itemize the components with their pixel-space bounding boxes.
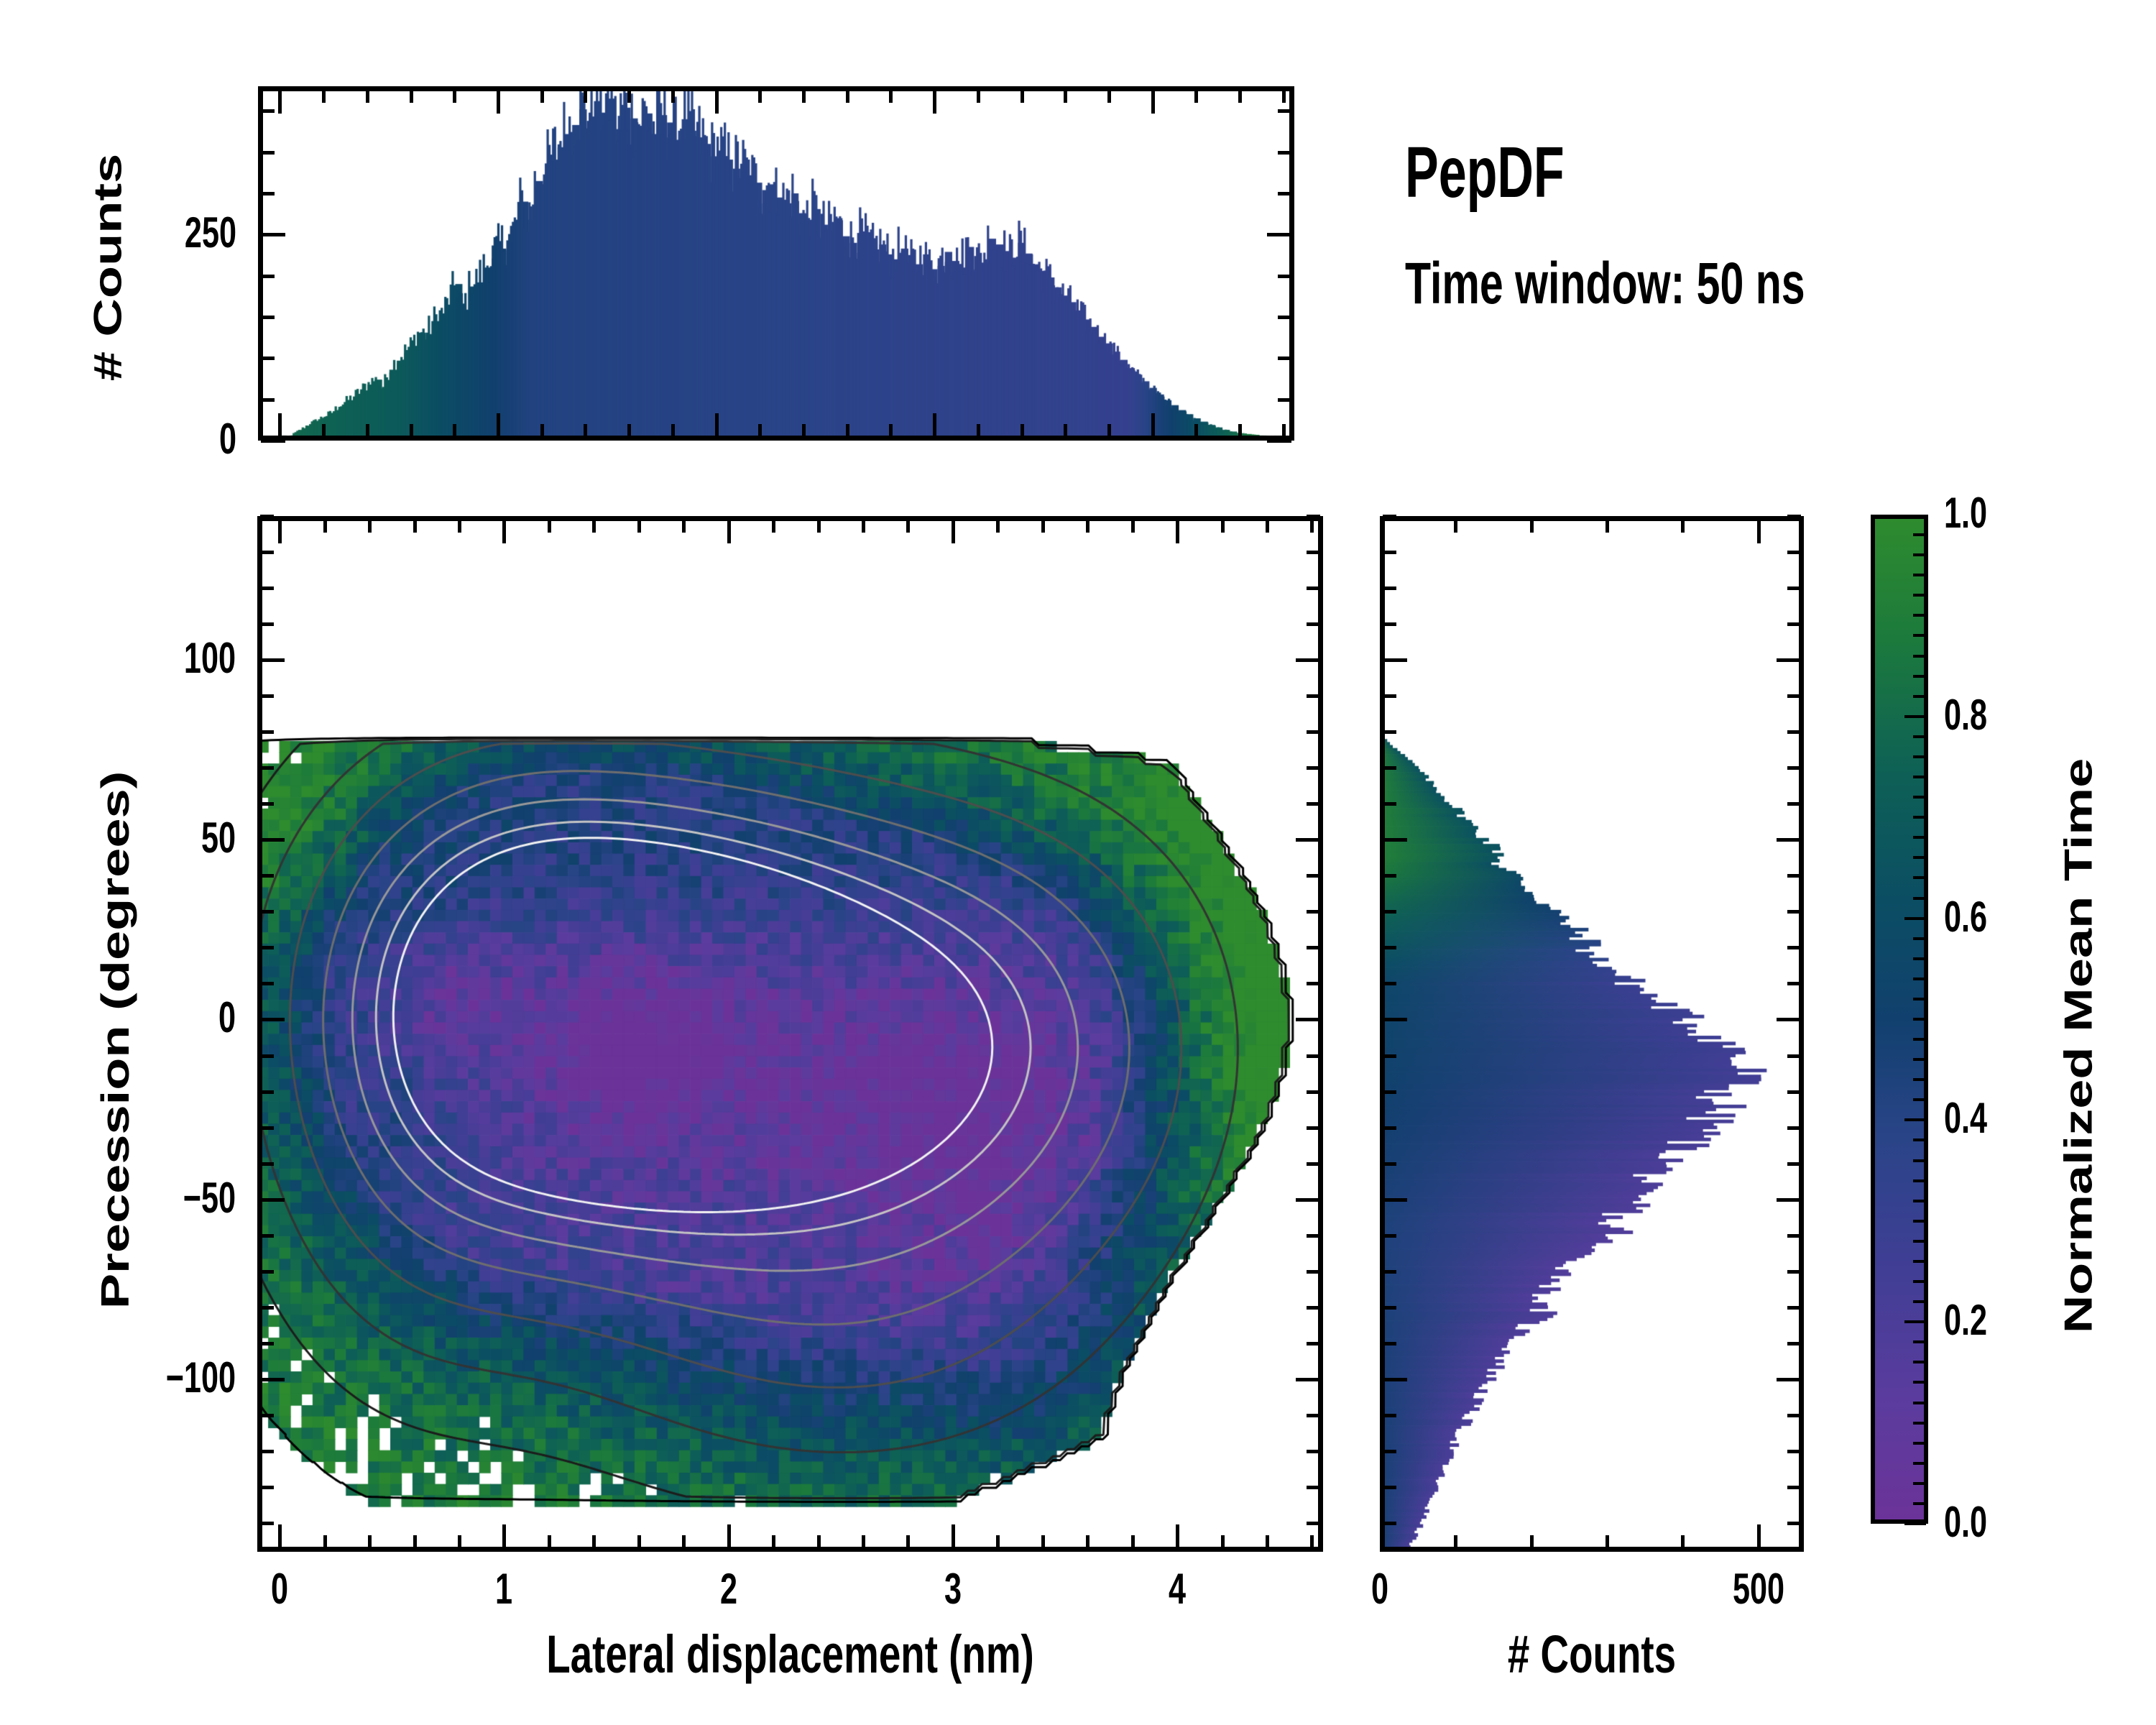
tick-mark	[261, 151, 275, 155]
tick-mark	[1913, 1098, 1926, 1101]
tick-mark	[260, 910, 274, 914]
tick-mark	[1913, 1502, 1926, 1505]
tick-mark	[368, 1535, 372, 1549]
tick-mark	[727, 1524, 731, 1549]
tick-mark	[1913, 796, 1926, 799]
tick-mark	[1307, 1090, 1320, 1094]
tick-mark	[1176, 519, 1179, 543]
tick-mark	[260, 1270, 274, 1274]
tick-mark	[1913, 695, 1926, 698]
tick-label: 4	[1146, 1568, 1208, 1611]
tick-mark	[1194, 89, 1198, 103]
tick-mark	[260, 730, 274, 734]
tick-mark	[260, 1162, 274, 1166]
tick-mark	[1383, 1162, 1396, 1166]
tick-mark	[1904, 1118, 1926, 1121]
tick-label: 0.4	[1944, 1097, 2058, 1140]
tick-mark	[584, 424, 587, 438]
tick-mark	[1151, 89, 1155, 114]
tick-mark	[1787, 515, 1801, 518]
tick-mark	[1296, 1198, 1320, 1202]
tick-mark	[1787, 1414, 1801, 1417]
tick-mark	[540, 89, 544, 103]
tick-mark	[1913, 998, 1926, 1000]
tick-mark	[1787, 766, 1801, 770]
tick-mark	[1307, 515, 1320, 518]
tick-label: 2	[698, 1568, 760, 1611]
tick-mark	[1307, 1414, 1320, 1417]
tick-mark	[261, 192, 275, 195]
tick-mark	[1383, 658, 1407, 662]
tick-mark	[1777, 1378, 1801, 1381]
tick-mark	[1267, 439, 1291, 443]
tick-mark	[1681, 1535, 1685, 1549]
tick-mark	[261, 233, 285, 236]
tick-mark	[261, 356, 275, 360]
tick-mark	[1282, 424, 1286, 438]
tick-mark	[1064, 89, 1067, 103]
tick-mark	[1913, 937, 1926, 940]
tick-mark	[682, 519, 686, 533]
tick-label: 500	[1728, 1568, 1789, 1611]
tick-mark	[682, 1535, 686, 1549]
tick-mark	[1383, 1198, 1407, 1202]
tick-mark	[1913, 735, 1926, 738]
tick-mark	[1913, 1038, 1926, 1041]
tick-mark	[584, 89, 587, 103]
tick-mark	[323, 1535, 327, 1549]
tick-mark	[502, 519, 506, 543]
tick-mark	[1681, 519, 1685, 533]
tick-mark	[727, 519, 731, 543]
tick-mark	[260, 1486, 274, 1489]
tick-mark	[1383, 910, 1396, 914]
tick-mark	[278, 89, 282, 114]
tick-mark	[1913, 957, 1926, 960]
tick-mark	[1913, 574, 1926, 576]
tick-mark	[1383, 1270, 1396, 1274]
tick-mark	[1296, 838, 1320, 842]
tick-mark	[260, 946, 274, 949]
tick-mark	[1131, 519, 1135, 533]
tick-label: 0	[249, 1568, 310, 1611]
tick-mark	[1913, 1462, 1926, 1465]
tick-mark	[1383, 1090, 1396, 1094]
tick-mark	[1307, 1450, 1320, 1453]
tick-mark	[1221, 519, 1225, 533]
tick-mark	[1787, 874, 1801, 878]
tick-mark	[260, 1522, 274, 1525]
tick-mark	[1787, 1162, 1801, 1166]
tick-mark	[260, 622, 274, 626]
tick-mark	[637, 519, 641, 533]
tick-mark	[1383, 982, 1396, 985]
tick-mark	[1307, 1306, 1320, 1310]
tick-mark	[1278, 109, 1291, 113]
tick-mark	[1913, 776, 1926, 778]
tick-mark	[1064, 424, 1067, 438]
tick-mark	[846, 89, 849, 103]
tick-mark	[1913, 594, 1926, 597]
tick-mark	[1606, 1535, 1609, 1549]
tick-mark	[1913, 1179, 1926, 1182]
tick-mark	[1913, 1280, 1926, 1283]
tick-mark	[453, 89, 456, 103]
tick-mark	[1278, 192, 1291, 195]
tick-mark	[548, 1535, 551, 1549]
tick-mark	[1383, 1378, 1407, 1381]
tick-mark	[1307, 622, 1320, 626]
tick-mark	[260, 1126, 274, 1130]
tick-mark	[260, 1342, 274, 1345]
tick-mark	[1278, 356, 1291, 360]
tick-mark	[1454, 519, 1457, 533]
tick-mark	[1787, 1342, 1801, 1345]
tick-mark	[1296, 1018, 1320, 1021]
tick-mark	[1913, 755, 1926, 758]
tick-mark	[1777, 838, 1801, 842]
tick-mark	[977, 89, 980, 103]
tick-mark	[261, 109, 275, 113]
tick-mark	[772, 1535, 775, 1549]
tick-mark	[458, 519, 461, 533]
tick-mark	[1787, 586, 1801, 590]
tick-mark	[1383, 946, 1396, 949]
tick-mark	[1086, 1535, 1089, 1549]
tick-mark	[1310, 519, 1314, 533]
tick-mark	[1307, 1522, 1320, 1525]
tick-mark	[1757, 1524, 1761, 1549]
tick-label: 0.2	[1944, 1299, 2058, 1342]
tick-mark	[1904, 715, 1926, 718]
tick-mark	[260, 1450, 274, 1453]
tick-mark	[637, 1535, 641, 1549]
tick-mark	[260, 658, 285, 662]
tick-mark	[1238, 89, 1242, 103]
tick-mark	[1913, 856, 1926, 859]
tick-mark	[1194, 424, 1198, 438]
tick-mark	[260, 838, 285, 842]
tick-mark	[996, 1535, 1000, 1549]
tick-mark	[846, 424, 849, 438]
tick-mark	[1383, 1234, 1396, 1238]
tick-label: 0.6	[1944, 896, 2058, 939]
tick-mark	[1086, 519, 1089, 533]
tick-mark	[540, 424, 544, 438]
tick-mark	[1383, 694, 1396, 698]
tick-mark	[1913, 876, 1926, 879]
tick-mark	[1383, 802, 1396, 806]
tick-mark	[260, 1198, 285, 1202]
tick-mark	[1278, 316, 1291, 319]
tick-mark	[1530, 1535, 1534, 1549]
tick-mark	[1913, 1260, 1926, 1263]
tick-mark	[1787, 1306, 1801, 1310]
figure-root: 0250 # Counts 01234−100−50050100 Lateral…	[0, 0, 2156, 1725]
tick-mark	[1454, 1535, 1457, 1549]
tick-mark	[1913, 675, 1926, 678]
tick-mark	[366, 424, 369, 438]
tick-mark	[758, 424, 762, 438]
tick-mark	[1383, 515, 1396, 518]
tick-label: −50	[65, 1177, 236, 1220]
main-heatmap-panel	[257, 516, 1323, 1552]
tick-mark	[1787, 622, 1801, 626]
tick-mark	[1913, 816, 1926, 819]
tick-mark	[1904, 1522, 1926, 1525]
main-xlabel: Lateral displacement (nm)	[396, 1628, 1184, 1681]
tick-mark	[1021, 424, 1024, 438]
tick-mark	[671, 424, 675, 438]
tick-mark	[1296, 1378, 1320, 1381]
tick-mark	[1913, 1159, 1926, 1162]
right-histogram-panel	[1380, 516, 1804, 1552]
tick-mark	[715, 89, 719, 114]
tick-mark	[1913, 1220, 1926, 1223]
tick-mark	[323, 519, 327, 533]
tick-mark	[889, 89, 893, 103]
tick-mark	[1041, 519, 1045, 533]
tick-mark	[1777, 1198, 1801, 1202]
tick-mark	[1310, 1535, 1314, 1549]
tick-mark	[1913, 1078, 1926, 1081]
top-histogram-canvas	[258, 86, 1294, 441]
tick-mark	[1787, 1126, 1801, 1130]
tick-mark	[889, 424, 893, 438]
tick-mark	[627, 424, 631, 438]
tick-mark	[1913, 533, 1926, 536]
tick-label: 100	[65, 637, 236, 680]
tick-mark	[592, 519, 596, 533]
tick-mark	[413, 1535, 417, 1549]
tick-mark	[260, 1018, 285, 1021]
tick-mark	[261, 275, 275, 278]
tick-mark	[1383, 1018, 1407, 1021]
tick-mark	[1787, 551, 1801, 554]
tick-mark	[1107, 424, 1111, 438]
top-histogram-ylabel: # Counts	[88, 116, 128, 418]
tick-mark	[1777, 658, 1801, 662]
tick-mark	[1787, 1090, 1801, 1094]
tick-mark	[1266, 519, 1269, 533]
tick-mark	[1267, 233, 1291, 236]
tick-mark	[1913, 1381, 1926, 1384]
tick-label: 0	[65, 996, 236, 1039]
tick-mark	[1383, 1054, 1396, 1058]
tick-mark	[1383, 1342, 1396, 1345]
tick-label: 3	[922, 1568, 984, 1611]
tick-mark	[1913, 1138, 1926, 1141]
tick-mark	[1913, 1018, 1926, 1021]
tick-mark	[413, 519, 417, 533]
tick-mark	[261, 398, 275, 402]
tick-mark	[1913, 614, 1926, 617]
tick-mark	[1777, 1018, 1801, 1021]
tick-mark	[906, 1535, 910, 1549]
tick-mark	[1383, 1414, 1396, 1417]
colorbar-label: Normalized Mean Time	[2059, 541, 2099, 1550]
tick-mark	[1913, 1422, 1926, 1425]
tick-mark	[366, 89, 369, 103]
tick-mark	[592, 1535, 596, 1549]
tick-mark	[952, 1524, 955, 1549]
tick-mark	[1787, 982, 1801, 985]
tick-label: −100	[65, 1356, 236, 1399]
tick-mark	[260, 766, 274, 770]
tick-mark	[1278, 398, 1291, 402]
tick-mark	[1307, 586, 1320, 590]
tick-mark	[1913, 836, 1926, 839]
tick-mark	[1307, 730, 1320, 734]
tick-mark	[1913, 1240, 1926, 1243]
tick-mark	[260, 515, 274, 518]
tick-mark	[1307, 1342, 1320, 1345]
tick-mark	[1151, 413, 1155, 438]
tick-mark	[1787, 946, 1801, 949]
tick-mark	[260, 1414, 274, 1417]
tick-mark	[497, 89, 500, 114]
tick-mark	[278, 1524, 282, 1549]
tick-mark	[1383, 1486, 1396, 1489]
tick-mark	[260, 586, 274, 590]
tick-mark	[1307, 910, 1320, 914]
tick-mark	[802, 89, 806, 103]
tick-mark	[1278, 151, 1291, 155]
main-ylabel: Precession (degrees)	[96, 523, 135, 1558]
tick-mark	[977, 424, 980, 438]
tick-mark	[1383, 1450, 1396, 1453]
right-histogram-xlabel: # Counts	[1435, 1628, 1749, 1681]
tick-mark	[1787, 1450, 1801, 1453]
tick-label: 0.0	[1944, 1501, 2058, 1544]
tick-mark	[502, 1524, 506, 1549]
tick-mark	[1787, 910, 1801, 914]
top-histogram-panel	[258, 86, 1294, 441]
tick-mark	[458, 1535, 461, 1549]
tick-mark	[1904, 917, 1926, 920]
tick-mark	[772, 519, 775, 533]
tick-mark	[862, 519, 865, 533]
tick-mark	[1383, 1306, 1396, 1310]
tick-mark	[1307, 1270, 1320, 1274]
tick-mark	[1383, 551, 1396, 554]
tick-mark	[1307, 1126, 1320, 1130]
main-heatmap-canvas	[257, 516, 1323, 1552]
tick-mark	[1307, 1162, 1320, 1166]
tick-mark	[1307, 946, 1320, 949]
tick-mark	[758, 89, 762, 103]
tick-mark	[1913, 1361, 1926, 1363]
tick-mark	[1383, 838, 1407, 842]
tick-mark	[1913, 1442, 1926, 1445]
tick-mark	[1787, 730, 1801, 734]
tick-mark	[817, 1535, 821, 1549]
tick-mark	[1383, 1126, 1396, 1130]
tick-mark	[862, 1535, 865, 1549]
tick-mark	[1913, 1340, 1926, 1343]
tick-mark	[1307, 1054, 1320, 1058]
tick-mark	[1913, 1482, 1926, 1485]
tick-mark	[952, 519, 955, 543]
tick-mark	[1176, 1524, 1179, 1549]
tick-mark	[1383, 766, 1396, 770]
tick-mark	[1787, 802, 1801, 806]
tick-mark	[627, 89, 631, 103]
tick-mark	[260, 694, 274, 698]
tick-mark	[1307, 766, 1320, 770]
tick-label: 1	[473, 1568, 535, 1611]
tick-mark	[1787, 1054, 1801, 1058]
tick-mark	[260, 982, 274, 985]
tick-mark	[1266, 1535, 1269, 1549]
tick-mark	[1787, 1270, 1801, 1274]
tick-mark	[1307, 551, 1320, 554]
tick-mark	[1913, 1402, 1926, 1404]
tick-mark	[1131, 1535, 1135, 1549]
tick-mark	[1757, 519, 1761, 543]
tick-mark	[261, 316, 275, 319]
tick-mark	[1282, 89, 1286, 103]
right-histogram-canvas	[1380, 516, 1804, 1552]
tick-mark	[1307, 802, 1320, 806]
tick-mark	[322, 89, 326, 103]
tick-mark	[1787, 1486, 1801, 1489]
tick-mark	[260, 1306, 274, 1310]
tick-mark	[260, 1234, 274, 1238]
tick-mark	[1606, 519, 1609, 533]
tick-mark	[1383, 586, 1396, 590]
tick-mark	[1107, 89, 1111, 103]
tick-mark	[1383, 874, 1396, 878]
tick-mark	[260, 874, 274, 878]
tick-label: 0.8	[1944, 694, 2058, 737]
tick-mark	[1221, 1535, 1225, 1549]
tick-mark	[497, 413, 500, 438]
tick-label: 50	[65, 816, 236, 860]
tick-mark	[906, 519, 910, 533]
tick-mark	[453, 424, 456, 438]
tick-mark	[1913, 977, 1926, 980]
tick-mark	[1787, 694, 1801, 698]
tick-mark	[1913, 655, 1926, 658]
tick-mark	[1021, 89, 1024, 103]
tick-mark	[278, 413, 282, 438]
tick-mark	[671, 89, 675, 103]
tick-mark	[933, 89, 936, 114]
tick-mark	[1307, 874, 1320, 878]
tick-mark	[1041, 1535, 1045, 1549]
tick-mark	[410, 89, 413, 103]
tick-mark	[1787, 1234, 1801, 1238]
tick-label: 0	[65, 418, 236, 461]
figure-subtitle: Time window: 50 ns	[1405, 254, 1871, 313]
tick-mark	[1530, 519, 1534, 533]
tick-mark	[1913, 1300, 1926, 1303]
tick-mark	[1278, 275, 1291, 278]
tick-mark	[1913, 1058, 1926, 1061]
tick-mark	[410, 424, 413, 438]
tick-mark	[322, 424, 326, 438]
tick-mark	[1307, 694, 1320, 698]
tick-mark	[1787, 1522, 1801, 1525]
tick-mark	[1307, 982, 1320, 985]
tick-label: 1.0	[1944, 492, 2058, 535]
tick-mark	[1913, 897, 1926, 900]
tick-mark	[1383, 730, 1396, 734]
tick-mark	[715, 413, 719, 438]
tick-mark	[260, 802, 274, 806]
tick-mark	[260, 1054, 274, 1058]
